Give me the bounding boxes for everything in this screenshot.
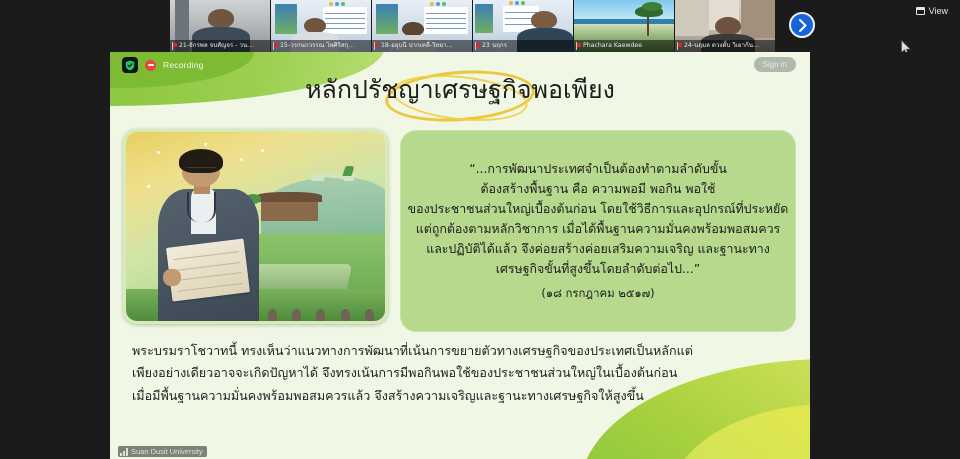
sign-in-label: Sign in xyxy=(763,60,787,69)
royal-portrait-image xyxy=(123,129,388,324)
quote-line: เศรษฐกิจขั้นที่สูงขึ้นโดยลำดับต่อไป...” xyxy=(408,259,789,279)
participant-namebar: 23 นฤกร xyxy=(473,40,573,52)
participant-tile[interactable]: 18-อยุบนี ปากเคลี่-วิทยา... xyxy=(372,0,472,52)
quote-line: “...การพัฒนาประเทศจำเป็นต้องทำตามลำดับขั… xyxy=(408,159,789,179)
presentation-slide: Recording Sign in หลักปรัชญาเศรษฐกิจพอเพ… xyxy=(110,52,810,459)
layout-grid-icon xyxy=(916,7,925,15)
participant-tile[interactable]: Phachara Kaewdee xyxy=(574,0,674,52)
quote-line: ของประชาชนส่วนใหญ่เบื้องต้นก่อน โดยใช้วิ… xyxy=(408,199,789,219)
thai-flag-icon xyxy=(475,42,480,50)
paragraph-line: เมื่อมีพื้นฐานความมั่นคงพร้อมพอสมควรแล้ว… xyxy=(132,385,792,407)
record-stop-icon xyxy=(145,60,156,71)
shield-check-icon xyxy=(122,57,138,73)
participant-name: 21-จักรพล จบสัญจร - วน... xyxy=(179,40,253,52)
airplane-illustration xyxy=(310,170,354,183)
participant-namebar: Phachara Kaewdee xyxy=(574,40,674,52)
quote-line: และปฏิบัติได้แล้ว จึงค่อยสร้างค่อยเสริมค… xyxy=(408,239,789,259)
participant-filmstrip: 21-จักรพล จบสัญจร - วน... 15-วรกนกวรรณ ไ… xyxy=(170,0,784,52)
watermark-label: Suan Dusit University xyxy=(131,447,203,456)
slide-paragraph: พระบรมราโชวาทนี้ ทรงเห็นว่าแนวทางการพัฒน… xyxy=(132,340,792,407)
quote-date: (๑๘ กรกฎาคม ๒๕๑๗) xyxy=(541,285,654,303)
quote-card: “...การพัฒนาประเทศจำเป็นต้องทำตามลำดับขั… xyxy=(400,130,796,332)
participant-namebar: 21-จักรพล จบสัญจร - วน... xyxy=(170,40,270,52)
participant-name: Phachara Kaewdee xyxy=(583,40,642,52)
participant-tile[interactable]: 24-นฤมล ดวงดั้บ วิเยาก้น... xyxy=(675,0,775,52)
chevron-right-icon xyxy=(797,19,808,32)
participant-name: 15-วรกนกวรรณ ไพศิริสกุ... xyxy=(280,40,354,52)
participant-namebar: 18-อยุบนี ปากเคลี่-วิทยา... xyxy=(372,40,472,52)
participant-tile[interactable]: 23 นฤกร xyxy=(473,0,573,52)
thai-flag-icon xyxy=(576,42,581,50)
participant-tile[interactable]: 21-จักรพล จบสัญจร - วน... xyxy=(170,0,270,52)
thai-flag-icon xyxy=(677,42,682,50)
participant-name: 23 นฤกร xyxy=(482,40,507,52)
king-figure xyxy=(152,147,297,321)
recording-indicator: Recording xyxy=(122,57,204,73)
thai-flag-icon xyxy=(273,42,278,50)
watermark: Suan Dusit University xyxy=(118,446,207,457)
quote-line: ต้องสร้างพื้นฐาน คือ ความพอมี พอกิน พอใช… xyxy=(408,179,789,199)
participant-tile[interactable]: 15-วรกนกวรรณ ไพศิริสกุ... xyxy=(271,0,371,52)
shared-screen[interactable]: Recording Sign in หลักปรัชญาเศรษฐกิจพอเพ… xyxy=(110,52,810,459)
screen-letterbox-left xyxy=(0,52,110,459)
thai-flag-icon xyxy=(172,42,177,50)
page-title: หลักปรัชญาเศรษฐกิจพอเพียง xyxy=(110,74,810,105)
quote-line: แต่ถูกต้องตามหลักวิชาการ เมื่อได้พื้นฐาน… xyxy=(408,219,789,239)
sign-in-button[interactable]: Sign in xyxy=(754,57,796,72)
paragraph-line: พระบรมราโชวาทนี้ ทรงเห็นว่าแนวทางการพัฒน… xyxy=(132,340,792,362)
participant-namebar: 24-นฤมล ดวงดั้บ วิเยาก้น... xyxy=(675,40,775,52)
quote-text: “...การพัฒนาประเทศจำเป็นต้องทำตามลำดับขั… xyxy=(408,159,789,280)
participant-name: 24-นฤมล ดวงดั้บ วิเยาก้น... xyxy=(684,40,759,52)
slide-title-container: หลักปรัชญาเศรษฐกิจพอเพียง xyxy=(110,74,810,105)
next-page-button[interactable] xyxy=(789,12,815,38)
participant-name: 18-อยุบนี ปากเคลี่-วิทยา... xyxy=(381,40,453,52)
paragraph-line: เพียงอย่างเดียวอาจจะเกิดปัญหาได้ จึงทรงเ… xyxy=(132,362,792,384)
computer-use-screen: 21-จักรพล จบสัญจร - วน... 15-วรกนกวรรณ ไ… xyxy=(0,0,960,459)
participant-namebar: 15-วรกนกวรรณ ไพศิริสกุ... xyxy=(271,40,371,52)
thai-flag-icon xyxy=(374,42,379,50)
view-button-label: View xyxy=(929,6,948,16)
view-button[interactable]: View xyxy=(912,3,952,19)
recording-label: Recording xyxy=(163,60,204,70)
screen-letterbox-right xyxy=(810,52,960,459)
signal-bars-icon xyxy=(120,448,128,456)
